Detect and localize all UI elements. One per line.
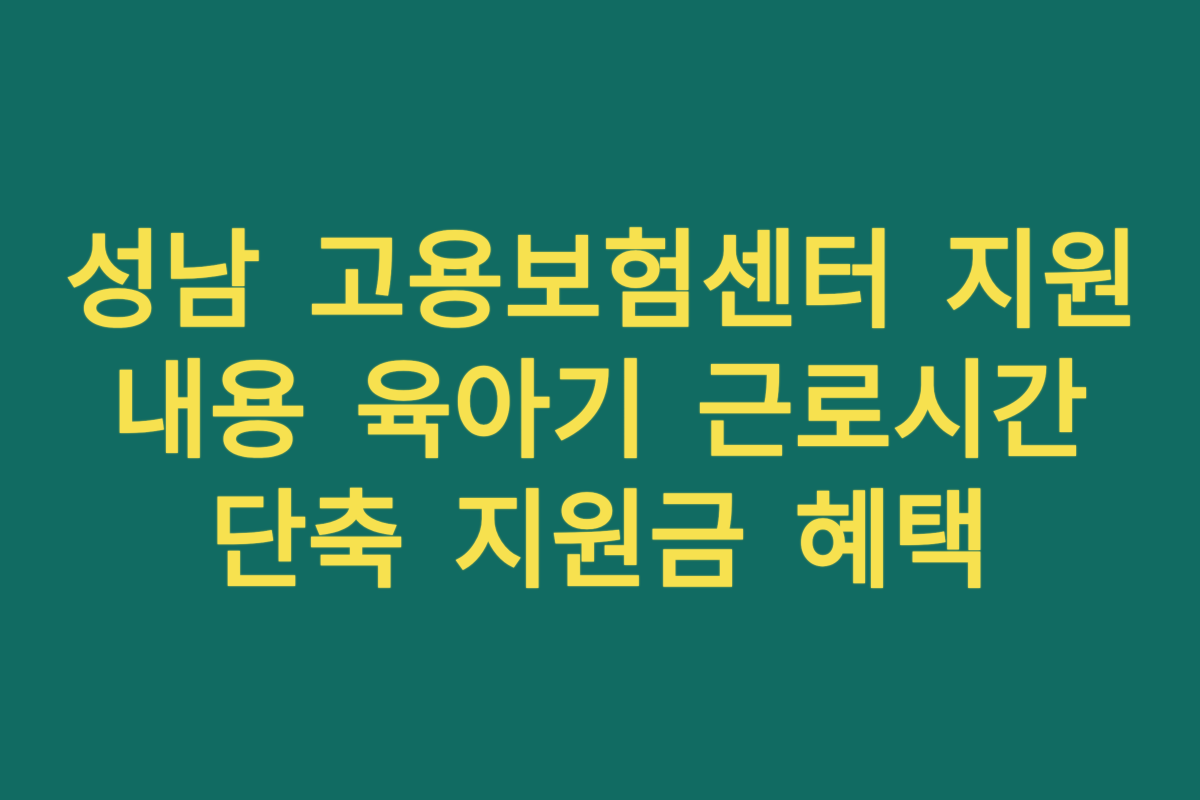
headline-line-3: 단축 지원금 혜택: [65, 477, 1135, 607]
headline-line-1: 성남 고용보험센터 지원: [65, 217, 1135, 347]
headline-line-2: 내용 육아기 근로시간: [65, 347, 1135, 477]
banner-canvas: 성남 고용보험센터 지원 내용 육아기 근로시간 단축 지원금 혜택: [0, 0, 1200, 800]
headline-text-block: 성남 고용보험센터 지원 내용 육아기 근로시간 단축 지원금 혜택: [65, 217, 1135, 607]
